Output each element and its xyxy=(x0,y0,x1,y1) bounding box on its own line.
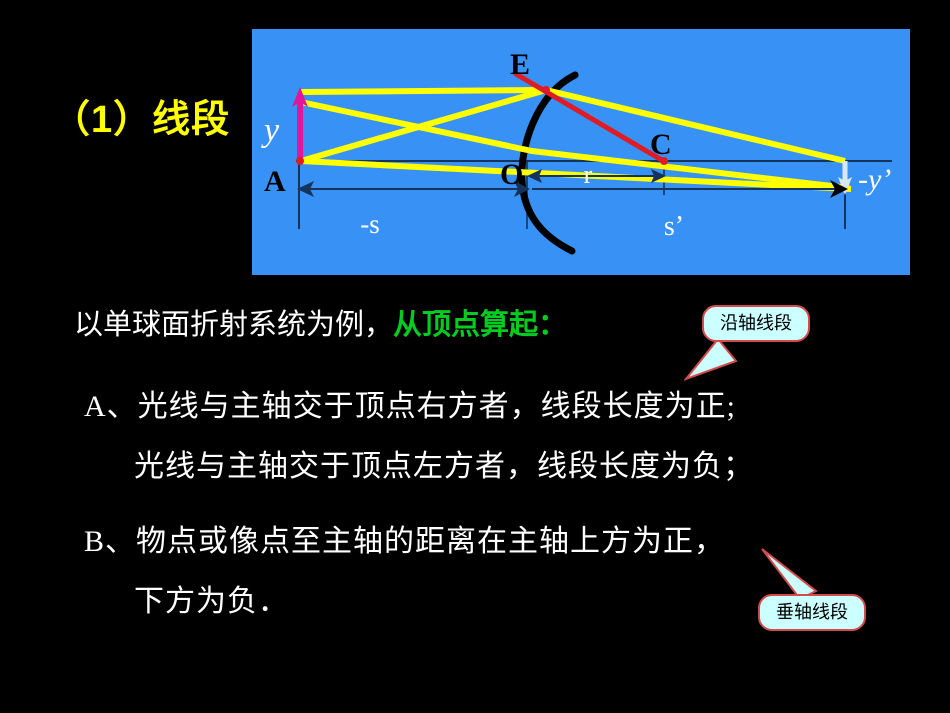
rule-a-line-2: 光线与主轴交于顶点左方者，线段长度为负； xyxy=(134,441,754,485)
object-base-point xyxy=(296,157,304,165)
label-object-distance: -s xyxy=(360,209,380,239)
page-title: （1）线段 xyxy=(52,88,230,143)
callout-transverse-label: 垂轴线段 xyxy=(758,594,866,631)
ray-upper xyxy=(301,90,845,161)
intro-sentence: 以单球面折射系统为例，从顶点算起： xyxy=(74,301,567,343)
surface-intersection-point xyxy=(542,86,550,94)
label-object-point: A xyxy=(264,165,286,198)
rule-b-line-1: B、物点或像点至主轴的距离在主轴上方为正， xyxy=(84,516,725,560)
label-object-height: y xyxy=(261,112,280,149)
rule-b-line-2: 下方为负． xyxy=(134,576,289,620)
intro-sentence-white: 以单球面折射系统为例， xyxy=(74,309,393,341)
optics-diagram-panel: y A E O C r -s s’ -y’ xyxy=(252,29,910,275)
rule-a-line-1: A、光线与主轴交于顶点右方者，线段长度为正; xyxy=(84,381,736,425)
label-center: C xyxy=(650,128,672,161)
callout-axial-tail xyxy=(684,335,744,383)
label-surface-point: E xyxy=(510,48,530,81)
intro-sentence-green: 从顶点算起： xyxy=(393,309,567,341)
label-image-height: -y’ xyxy=(858,163,891,196)
label-image-distance: s’ xyxy=(664,211,684,242)
callout-axial-label: 沿轴线段 xyxy=(702,305,810,342)
label-radius: r xyxy=(584,160,593,189)
optics-diagram-svg: y A E O C r -s s’ -y’ xyxy=(252,29,910,275)
label-vertex: O xyxy=(500,158,523,191)
